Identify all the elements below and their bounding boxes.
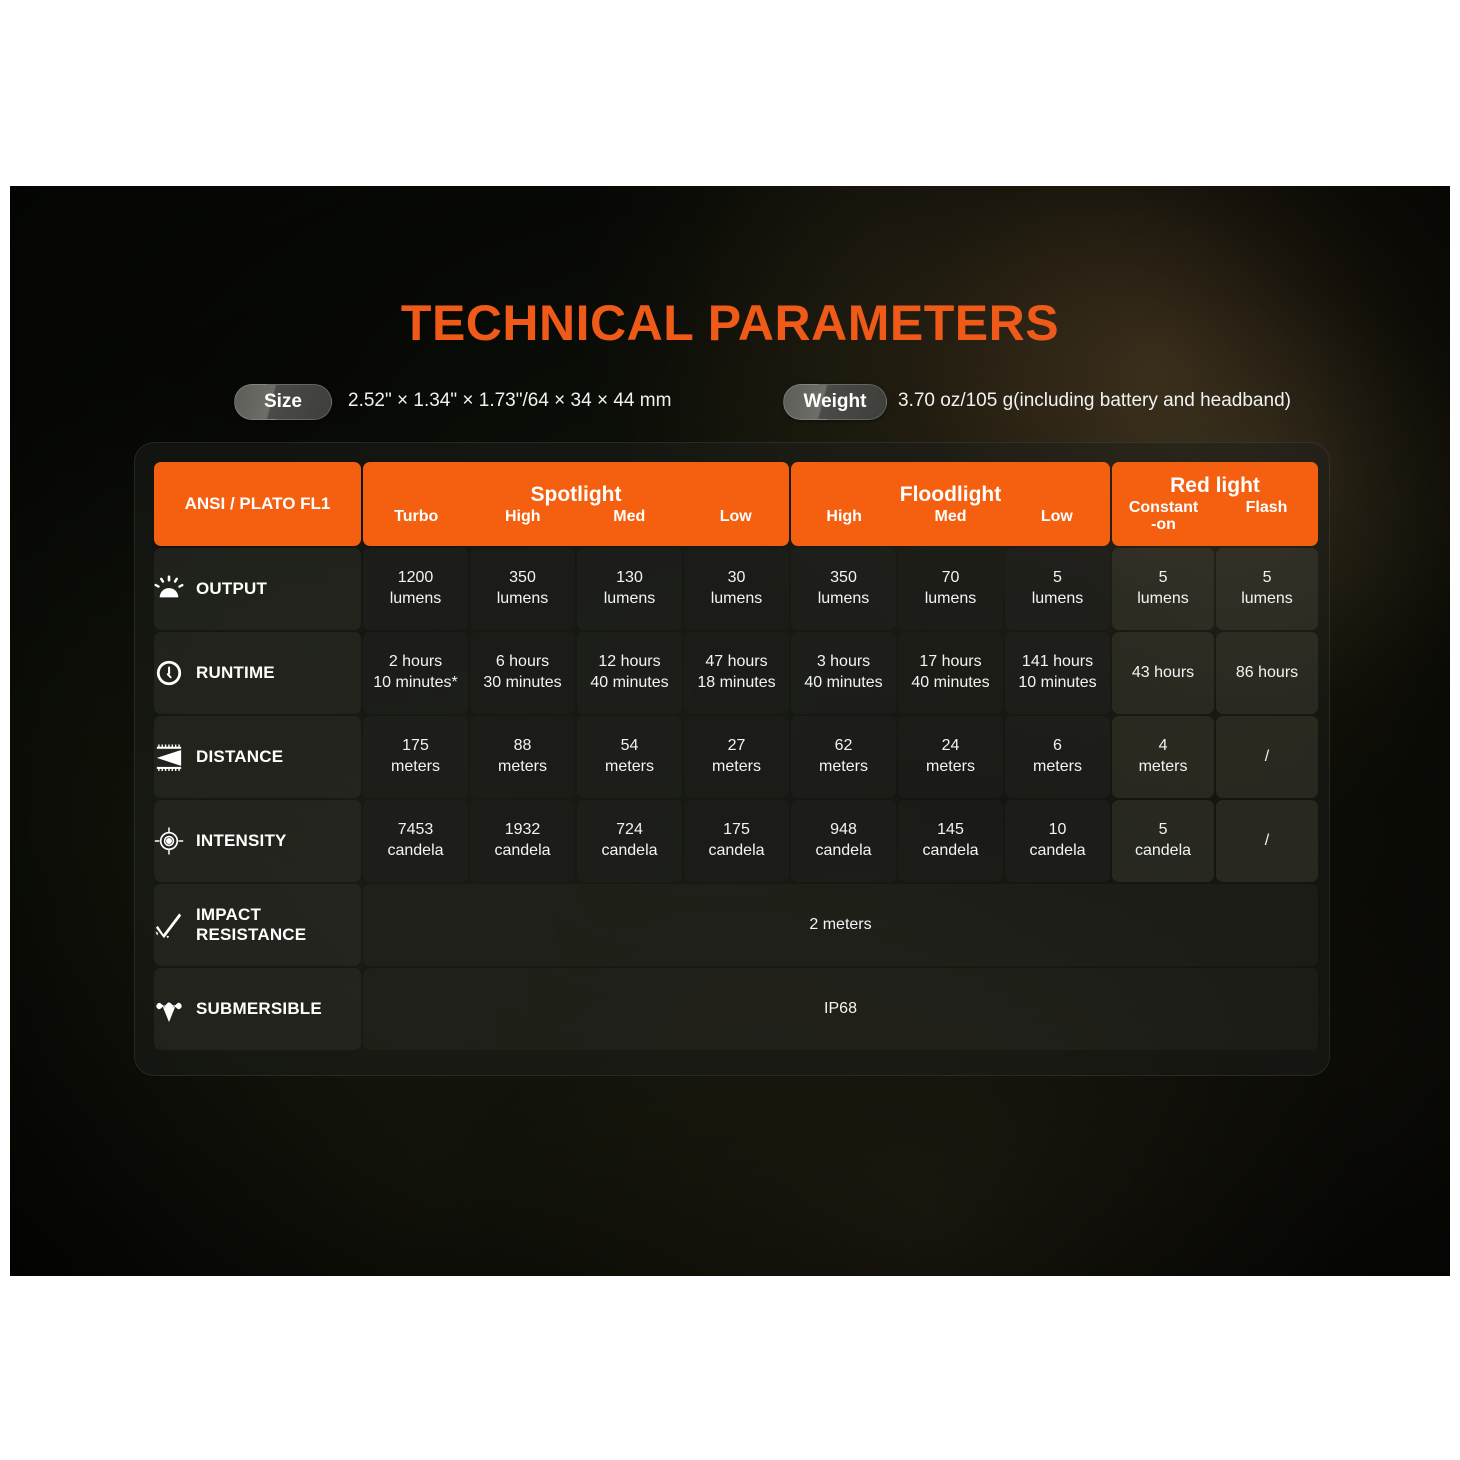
mode-header-spotlight-2: Med — [576, 509, 683, 526]
table-row: SUBMERSIBLEIP68 — [154, 968, 1318, 1050]
cell-r0-c0: 1200lumens — [363, 548, 468, 630]
group-header-floodlight: Floodlight HighMedLow — [791, 462, 1110, 546]
row-label-text: DISTANCE — [196, 747, 283, 767]
mode-header-spotlight-1: High — [470, 509, 577, 526]
row-span-value: 2 meters — [363, 884, 1318, 966]
spec-table-head: ANSI / PLATO FL1 Spotlight TurboHighMedL… — [154, 462, 1318, 546]
cell-r0-c2: 130lumens — [577, 548, 682, 630]
mode-header-floodlight-0: High — [791, 509, 897, 526]
mode-header-spotlight-3: Low — [683, 509, 790, 526]
cell-r2-c1: 88meters — [470, 716, 575, 798]
table-row: IMPACTRESISTANCE2 meters — [154, 884, 1318, 966]
cell-r3-c0: 7453candela — [363, 800, 468, 882]
cell-r2-c2: 54meters — [577, 716, 682, 798]
cell-r1-c1: 6 hours30 minutes — [470, 632, 575, 714]
target-icon — [154, 827, 184, 855]
group-modes-redlight: Constant-onFlash — [1112, 500, 1318, 534]
size-pill-label: Size — [234, 384, 332, 420]
weight-value: 3.70 oz/105 g(including battery and head… — [898, 390, 1291, 412]
mode-header-redlight-1: Flash — [1215, 500, 1318, 534]
spec-table: ANSI / PLATO FL1 Spotlight TurboHighMedL… — [152, 460, 1320, 1052]
cell-r2-c8: / — [1216, 716, 1318, 798]
row-label-impact-resistance: IMPACTRESISTANCE — [154, 884, 361, 966]
row-label-text: OUTPUT — [196, 579, 267, 599]
cell-r3-c2: 724candela — [577, 800, 682, 882]
sunburst-icon — [154, 575, 184, 603]
cell-r3-c7: 5candela — [1112, 800, 1214, 882]
cell-r0-c6: 5lumens — [1005, 548, 1110, 630]
cell-r0-c1: 350lumens — [470, 548, 575, 630]
group-header-redlight: Red light Constant-onFlash — [1112, 462, 1318, 546]
cell-r3-c5: 145candela — [898, 800, 1003, 882]
group-header-spotlight: Spotlight TurboHighMedLow — [363, 462, 789, 546]
cell-r2-c7: 4meters — [1112, 716, 1214, 798]
ruler-beam-icon — [154, 743, 184, 771]
table-row: RUNTIME2 hours10 minutes*6 hours30 minut… — [154, 632, 1318, 714]
cell-r0-c3: 30lumens — [684, 548, 789, 630]
group-modes-floodlight: HighMedLow — [791, 509, 1110, 526]
cell-r3-c8: / — [1216, 800, 1318, 882]
spec-strip: Size 2.52" × 1.34" × 1.73"/64 × 34 × 44 … — [10, 384, 1450, 424]
size-value: 2.52" × 1.34" × 1.73"/64 × 34 × 44 mm — [348, 390, 671, 412]
cell-r2-c5: 24meters — [898, 716, 1003, 798]
cell-r0-c8: 5lumens — [1216, 548, 1318, 630]
spec-table-body: OUTPUT1200lumens350lumens130lumens30lume… — [154, 548, 1318, 1050]
cell-r2-c0: 175meters — [363, 716, 468, 798]
mode-header-floodlight-2: Low — [1004, 509, 1110, 526]
cell-r1-c5: 17 hours40 minutes — [898, 632, 1003, 714]
cell-r2-c6: 6meters — [1005, 716, 1110, 798]
clock-icon — [154, 659, 184, 687]
cell-r1-c6: 141 hours10 minutes — [1005, 632, 1110, 714]
header-row: ANSI / PLATO FL1 Spotlight TurboHighMedL… — [154, 462, 1318, 546]
cell-r3-c6: 10candela — [1005, 800, 1110, 882]
weight-pill-label: Weight — [783, 384, 887, 420]
row-label-text: IMPACTRESISTANCE — [196, 905, 306, 945]
table-row: OUTPUT1200lumens350lumens130lumens30lume… — [154, 548, 1318, 630]
group-name-spotlight: Spotlight — [363, 483, 789, 507]
cell-r1-c3: 47 hours18 minutes — [684, 632, 789, 714]
cell-r1-c4: 3 hours40 minutes — [791, 632, 896, 714]
cell-r0-c4: 350lumens — [791, 548, 896, 630]
cell-r1-c0: 2 hours10 minutes* — [363, 632, 468, 714]
row-label-intensity: INTENSITY — [154, 800, 361, 882]
cell-r3-c1: 1932candela — [470, 800, 575, 882]
cell-r2-c3: 27meters — [684, 716, 789, 798]
row-label-text: SUBMERSIBLE — [196, 999, 322, 1019]
row-label-text: INTENSITY — [196, 831, 287, 851]
mode-header-floodlight-1: Med — [897, 509, 1003, 526]
mode-header-redlight-0: Constant-on — [1112, 500, 1215, 534]
mode-header-spotlight-0: Turbo — [363, 509, 470, 526]
row-label-output: OUTPUT — [154, 548, 361, 630]
cell-r1-c8: 86 hours — [1216, 632, 1318, 714]
corner-label: ANSI / PLATO FL1 — [154, 462, 361, 546]
spec-table-panel: ANSI / PLATO FL1 Spotlight TurboHighMedL… — [134, 442, 1330, 1076]
background-stage: TECHNICAL PARAMETERS Size 2.52" × 1.34" … — [10, 186, 1450, 1276]
cell-r0-c7: 5lumens — [1112, 548, 1214, 630]
cell-r3-c4: 948candela — [791, 800, 896, 882]
row-span-value: IP68 — [363, 968, 1318, 1050]
cell-r2-c4: 62meters — [791, 716, 896, 798]
page-title: TECHNICAL PARAMETERS — [10, 294, 1450, 352]
cell-r1-c7: 43 hours — [1112, 632, 1214, 714]
impact-check-icon — [154, 911, 184, 939]
row-label-text: RUNTIME — [196, 663, 275, 683]
group-modes-spotlight: TurboHighMedLow — [363, 509, 789, 526]
table-row: DISTANCE175meters88meters54meters27meter… — [154, 716, 1318, 798]
group-name-redlight: Red light — [1112, 474, 1318, 498]
row-label-distance: DISTANCE — [154, 716, 361, 798]
water-drop-icon — [154, 995, 184, 1023]
cell-r3-c3: 175candela — [684, 800, 789, 882]
row-label-submersible: SUBMERSIBLE — [154, 968, 361, 1050]
table-row: INTENSITY7453candela1932candela724candel… — [154, 800, 1318, 882]
group-name-floodlight: Floodlight — [791, 483, 1110, 507]
cell-r1-c2: 12 hours40 minutes — [577, 632, 682, 714]
cell-r0-c5: 70lumens — [898, 548, 1003, 630]
row-label-runtime: RUNTIME — [154, 632, 361, 714]
